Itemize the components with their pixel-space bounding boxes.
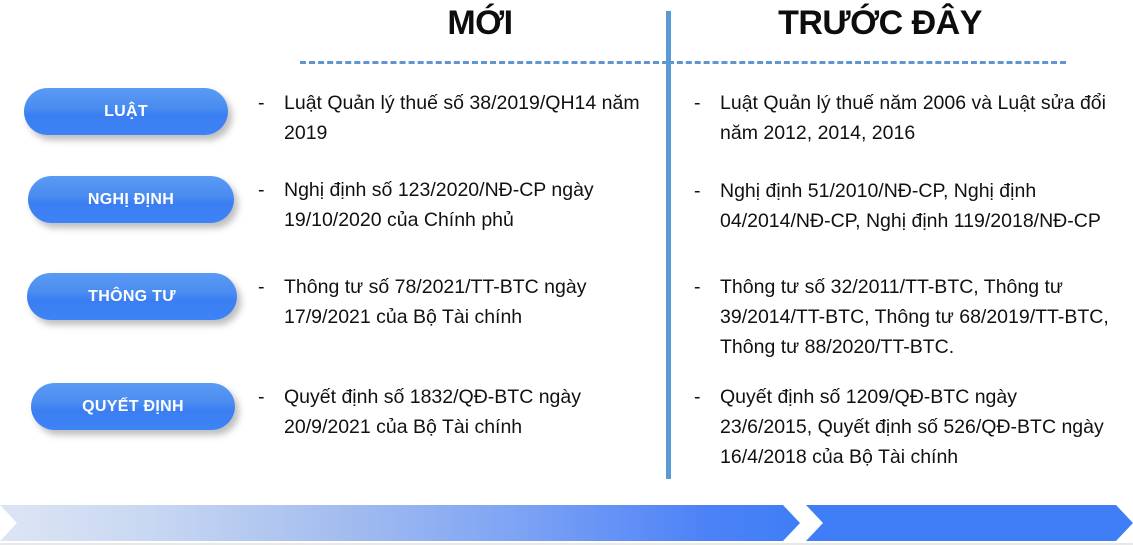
category-pill-label: NGHỊ ĐỊNH — [88, 191, 174, 209]
bullet-marker: - — [694, 176, 720, 206]
arrow-chevron-segment-left — [0, 505, 800, 541]
column-divider — [666, 11, 671, 479]
category-pill-thong-tu[interactable]: THÔNG TƯ — [27, 273, 237, 320]
bullet-row-new-nghi-dinh: - Nghị định số 123/2020/NĐ-CP ngày 19/10… — [258, 175, 656, 235]
slide-canvas: MỚI TRƯỚC ĐÂY LUẬT NGHỊ ĐỊNH THÔNG TƯ QU… — [0, 0, 1133, 545]
bullet-marker: - — [694, 272, 720, 302]
bullet-marker: - — [258, 88, 284, 118]
bullet-row-new-quyet-dinh: - Quyết định số 1832/QĐ-BTC ngày 20/9/20… — [258, 382, 588, 442]
column-header-previous: TRƯỚC ĐÂY — [690, 6, 1070, 40]
bottom-arrow-banner — [0, 505, 1133, 541]
bullet-text: Thông tư số 78/2021/TT-BTC ngày 17/9/202… — [284, 272, 656, 332]
bullet-marker: - — [258, 175, 284, 205]
arrow-chevron-segment-right — [806, 505, 1133, 541]
bullet-text: Nghị định số 123/2020/NĐ-CP ngày 19/10/2… — [284, 175, 656, 235]
category-pill-label: QUYẾT ĐỊNH — [82, 398, 184, 416]
bullet-row-previous-thong-tu: - Thông tư số 32/2011/TT-BTC, Thông tư 3… — [694, 272, 1118, 362]
bullet-marker: - — [258, 272, 284, 302]
category-pill-nghi-dinh[interactable]: NGHỊ ĐỊNH — [28, 176, 234, 223]
dashed-rule-right — [668, 61, 1066, 64]
bullet-text: Nghị định 51/2010/NĐ-CP, Nghị định 04/20… — [720, 176, 1114, 236]
category-pill-quyet-dinh[interactable]: QUYẾT ĐỊNH — [31, 383, 235, 430]
bullet-text: Luật Quản lý thuế số 38/2019/QH14 năm 20… — [284, 88, 656, 148]
bullet-row-previous-nghi-dinh: - Nghị định 51/2010/NĐ-CP, Nghị định 04/… — [694, 176, 1114, 236]
bullet-row-new-luat: - Luật Quản lý thuế số 38/2019/QH14 năm … — [258, 88, 656, 148]
bullet-text: Quyết định số 1832/QĐ-BTC ngày 20/9/2021… — [284, 382, 588, 442]
bullet-row-previous-luat: - Luật Quản lý thuế năm 2006 và Luật sửa… — [694, 88, 1114, 148]
bullet-marker: - — [694, 382, 720, 412]
bullet-marker: - — [258, 382, 284, 412]
bullet-row-previous-quyet-dinh: - Quyết định số 1209/QĐ-BTC ngày 23/6/20… — [694, 382, 1112, 472]
bullet-text: Quyết định số 1209/QĐ-BTC ngày 23/6/2015… — [720, 382, 1112, 472]
category-pill-label: LUẬT — [104, 103, 148, 121]
bullet-row-new-thong-tu: - Thông tư số 78/2021/TT-BTC ngày 17/9/2… — [258, 272, 656, 332]
category-pill-label: THÔNG TƯ — [88, 288, 176, 306]
column-header-new: MỚI — [300, 6, 660, 40]
bullet-text: Luật Quản lý thuế năm 2006 và Luật sửa đ… — [720, 88, 1114, 148]
dashed-rule-left — [300, 61, 668, 64]
category-pill-luat[interactable]: LUẬT — [24, 88, 228, 135]
bullet-text: Thông tư số 32/2011/TT-BTC, Thông tư 39/… — [720, 272, 1118, 362]
bullet-marker: - — [694, 88, 720, 118]
